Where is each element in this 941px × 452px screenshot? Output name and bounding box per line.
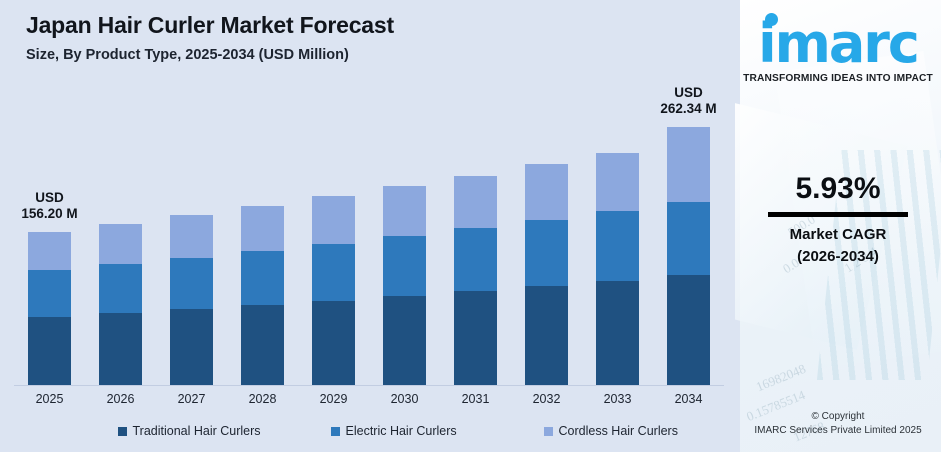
cagr-value: 5.93% xyxy=(735,170,941,208)
bar-column-2031 xyxy=(440,90,511,386)
bar-segment-electric-hair-curlers xyxy=(170,258,213,309)
x-axis-line xyxy=(14,385,724,386)
x-tick-2028: 2028 xyxy=(227,388,298,410)
legend-item-cordless-hair-curlers[interactable]: Cordless Hair Curlers xyxy=(476,420,689,442)
cagr-block: 5.93% Market CAGR (2026-2034) xyxy=(735,170,941,268)
stacked-bar xyxy=(454,176,497,386)
stacked-bar xyxy=(312,196,355,386)
logo-dot-icon xyxy=(765,13,778,26)
stacked-bar xyxy=(596,153,639,386)
page-title: Japan Hair Curler Market Forecast xyxy=(26,10,394,40)
stacked-bar xyxy=(170,215,213,386)
plot-area: USD156.20 MUSD262.34 M xyxy=(14,90,724,386)
imarc-logo: imarc TRANSFORMING IDEAS INTO IMPACT xyxy=(735,16,941,84)
bar-segment-traditional-hair-curlers xyxy=(241,305,284,386)
bar-segment-traditional-hair-curlers xyxy=(28,317,71,386)
x-tick-2031: 2031 xyxy=(440,388,511,410)
bar-segment-electric-hair-curlers xyxy=(241,251,284,305)
bar-segment-traditional-hair-curlers xyxy=(667,275,710,386)
stacked-bar xyxy=(28,232,71,386)
bar-column-2025: USD156.20 M xyxy=(14,90,85,386)
title-block: Japan Hair Curler Market Forecast Size, … xyxy=(26,10,394,66)
x-tick-2033: 2033 xyxy=(582,388,653,410)
page-subtitle: Size, By Product Type, 2025-2034 (USD Mi… xyxy=(26,44,394,66)
stacked-bar xyxy=(241,206,284,386)
bar-segment-traditional-hair-curlers xyxy=(525,286,568,386)
cagr-caption-period: (2026-2034) xyxy=(735,246,941,268)
bar-column-2029 xyxy=(298,90,369,386)
bar-column-2030 xyxy=(369,90,440,386)
bar-segment-electric-hair-curlers xyxy=(596,211,639,281)
bar-segment-traditional-hair-curlers xyxy=(170,309,213,386)
bar-segment-cordless-hair-curlers xyxy=(383,186,426,236)
stacked-bar xyxy=(667,127,710,386)
legend-label: Cordless Hair Curlers xyxy=(559,424,678,438)
bar-segment-cordless-hair-curlers xyxy=(99,224,142,265)
chart-legend: Traditional Hair CurlersElectric Hair Cu… xyxy=(14,420,724,442)
stacked-bar xyxy=(99,224,142,386)
x-tick-2029: 2029 xyxy=(298,388,369,410)
x-tick-2026: 2026 xyxy=(85,388,156,410)
bar-segment-traditional-hair-curlers xyxy=(383,296,426,386)
bar-column-2026 xyxy=(85,90,156,386)
bar-value-label-2025: USD156.20 M xyxy=(21,190,77,222)
bar-segment-electric-hair-curlers xyxy=(312,244,355,301)
bar-segment-electric-hair-curlers xyxy=(383,236,426,296)
legend-item-traditional-hair-curlers[interactable]: Traditional Hair Curlers xyxy=(50,420,263,442)
x-tick-2032: 2032 xyxy=(511,388,582,410)
bar-segment-cordless-hair-curlers xyxy=(667,127,710,201)
bar-segment-cordless-hair-curlers xyxy=(312,196,355,243)
stacked-bar xyxy=(525,164,568,386)
bar-value-label-2034: USD262.34 M xyxy=(660,85,716,117)
bar-segment-electric-hair-curlers xyxy=(667,202,710,276)
bar-segment-electric-hair-curlers xyxy=(525,220,568,287)
bar-segment-electric-hair-curlers xyxy=(28,270,71,316)
x-tick-2030: 2030 xyxy=(369,388,440,410)
bar-segment-traditional-hair-curlers xyxy=(454,291,497,386)
bar-segment-traditional-hair-curlers xyxy=(312,301,355,386)
legend-swatch-icon xyxy=(331,427,340,436)
bar-segment-cordless-hair-curlers xyxy=(170,215,213,258)
copyright-block: © Copyright IMARC Services Private Limit… xyxy=(735,410,941,438)
bar-column-2028 xyxy=(227,90,298,386)
x-tick-2025: 2025 xyxy=(14,388,85,410)
bar-segment-cordless-hair-curlers xyxy=(454,176,497,229)
bar-segment-traditional-hair-curlers xyxy=(596,281,639,386)
bar-column-2032 xyxy=(511,90,582,386)
x-tick-2034: 2034 xyxy=(653,388,724,410)
bar-segment-cordless-hair-curlers xyxy=(525,164,568,219)
chart-infographic: Japan Hair Curler Market Forecast Size, … xyxy=(0,0,941,452)
bar-column-2034: USD262.34 M xyxy=(653,90,724,386)
stacked-bar xyxy=(383,186,426,386)
copyright-company-line: IMARC Services Private Limited 2025 xyxy=(735,424,941,438)
cagr-caption-primary: Market CAGR xyxy=(735,224,941,246)
cagr-divider xyxy=(768,212,908,217)
legend-swatch-icon xyxy=(118,427,127,436)
bar-segment-electric-hair-curlers xyxy=(454,228,497,291)
bar-column-2027 xyxy=(156,90,227,386)
brand-panel: 500.0 0.0 1 2 3 4 16982048 0.15785514 12… xyxy=(735,0,941,452)
legend-swatch-icon xyxy=(544,427,553,436)
bar-segment-cordless-hair-curlers xyxy=(596,153,639,211)
bar-segment-cordless-hair-curlers xyxy=(241,206,284,251)
legend-item-electric-hair-curlers[interactable]: Electric Hair Curlers xyxy=(263,420,476,442)
bar-segment-cordless-hair-curlers xyxy=(28,232,71,271)
x-axis-labels: 2025202620272028202920302031203220332034 xyxy=(14,388,724,410)
chart-panel: Japan Hair Curler Market Forecast Size, … xyxy=(0,0,735,452)
legend-label: Traditional Hair Curlers xyxy=(133,424,261,438)
legend-label: Electric Hair Curlers xyxy=(346,424,457,438)
x-tick-2027: 2027 xyxy=(156,388,227,410)
bar-column-2033 xyxy=(582,90,653,386)
copyright-symbol-line: © Copyright xyxy=(735,410,941,424)
bar-group: USD156.20 MUSD262.34 M xyxy=(14,90,724,386)
logo-wordmark: imarc xyxy=(758,12,918,75)
bar-segment-electric-hair-curlers xyxy=(99,264,142,313)
bar-segment-traditional-hair-curlers xyxy=(99,313,142,386)
